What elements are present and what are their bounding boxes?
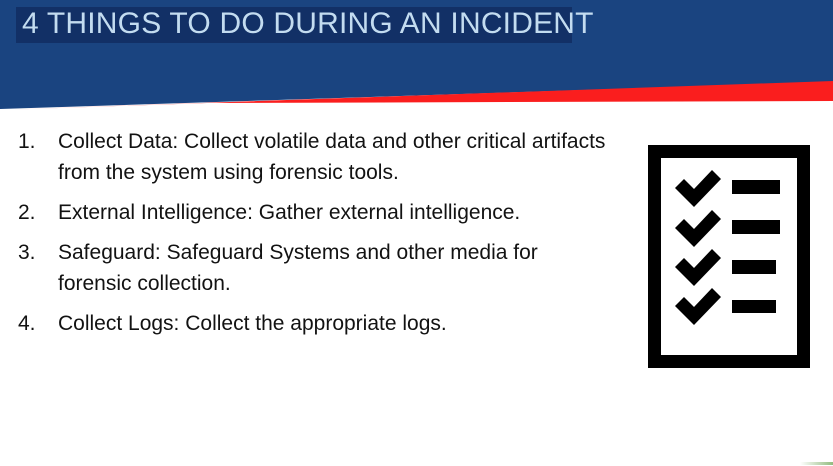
slide-header: 4 THINGS TO DO DURING AN INCIDENT [0,0,833,112]
slide-canvas: 4 THINGS TO DO DURING AN INCIDENT 1. Col… [0,0,833,466]
list-item: 4. Collect Logs: Collect the appropriate… [0,308,620,339]
page-title: 4 THINGS TO DO DURING AN INCIDENT [22,6,594,42]
bottom-edge-artifact [800,462,833,465]
incident-steps-list: 1. Collect Data: Collect volatile data a… [0,126,620,348]
list-item-text: Safeguard: Safeguard Systems and other m… [58,237,620,299]
list-item-number: 1. [0,126,58,157]
list-item-number: 4. [0,308,58,339]
list-item: 2. External Intelligence: Gather externa… [0,197,620,228]
list-item-text: Collect Data: Collect volatile data and … [58,126,620,188]
list-item-number: 2. [0,197,58,228]
list-item-number: 3. [0,237,58,268]
list-item: 3. Safeguard: Safeguard Systems and othe… [0,237,620,299]
list-item-text: Collect Logs: Collect the appropriate lo… [58,308,620,339]
list-item-text: External Intelligence: Gather external i… [58,197,620,228]
list-item: 1. Collect Data: Collect volatile data a… [0,126,620,188]
checklist-icon [648,145,810,368]
